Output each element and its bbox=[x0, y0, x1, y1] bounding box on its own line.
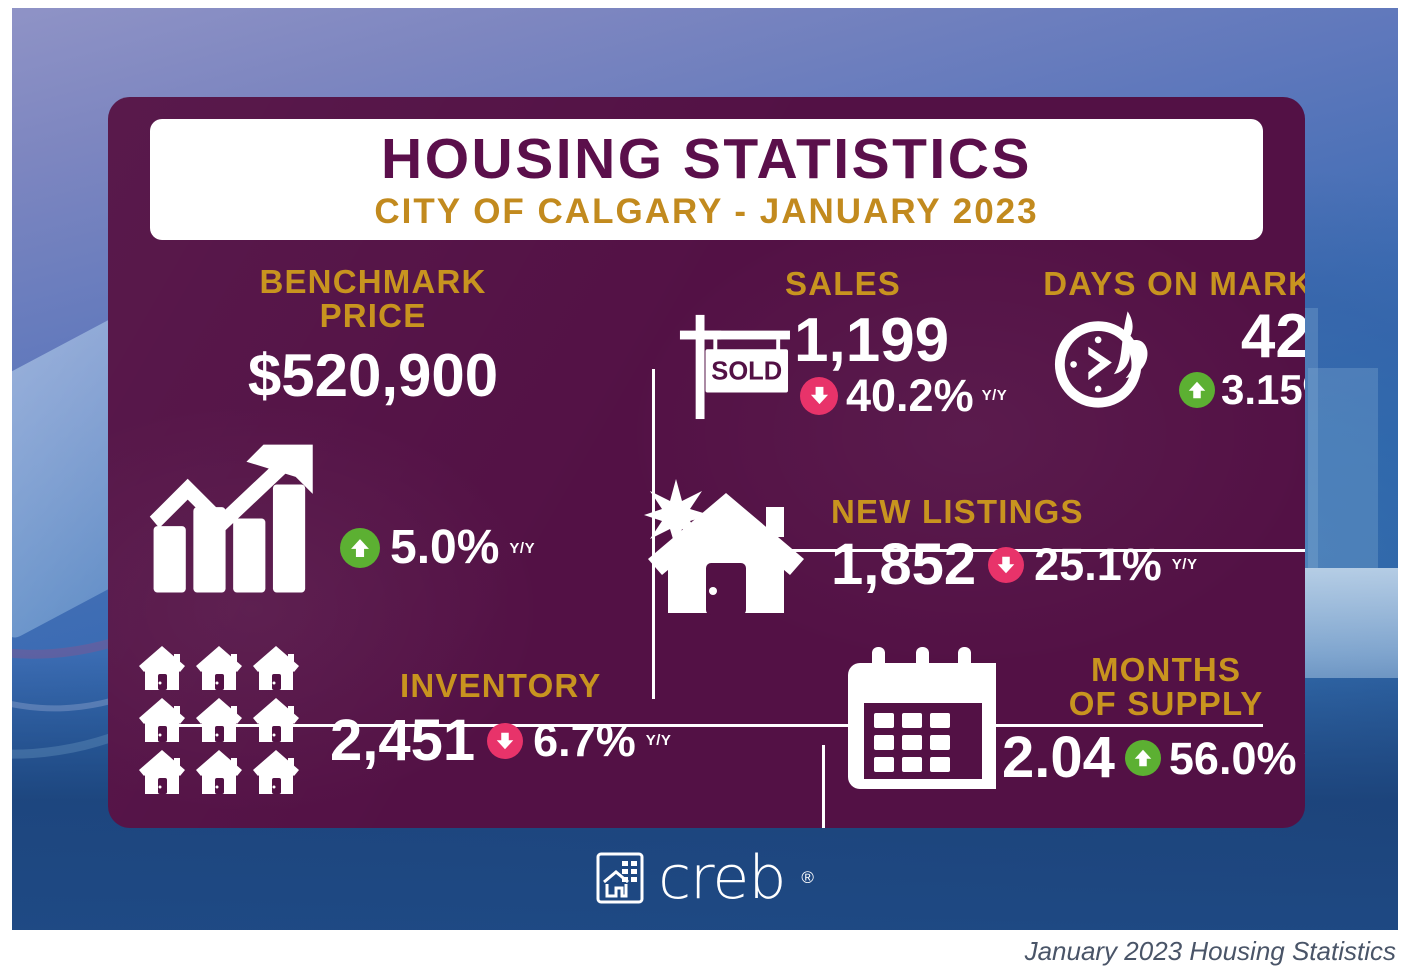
calendar-icon bbox=[848, 645, 996, 795]
creb-logo-mark-icon bbox=[596, 852, 644, 904]
metric-new-listings: NEW LISTINGS 1,852 25.1% Y/Y bbox=[638, 467, 1278, 622]
sales-label: SALES bbox=[668, 267, 1018, 301]
new-listings-label: NEW LISTINGS bbox=[831, 495, 1197, 529]
inventory-value: 2,451 bbox=[330, 712, 475, 770]
creb-logo: creb ® bbox=[0, 848, 1410, 908]
footer-caption: January 2023 Housing Statistics bbox=[1025, 936, 1396, 967]
stats-card: HOUSING STATISTICS CITY OF CALGARY - JAN… bbox=[108, 97, 1305, 828]
arrow-up-icon bbox=[1179, 372, 1215, 408]
benchmark-price-change-value: 5.0% bbox=[390, 524, 499, 572]
arrow-down-icon bbox=[988, 547, 1024, 583]
new-listings-period: Y/Y bbox=[1172, 556, 1198, 573]
page-title: HOUSING STATISTICS bbox=[381, 131, 1032, 188]
days-on-market-change-value: 3.15% bbox=[1221, 369, 1305, 411]
days-on-market-label: DAYS ON MARKET bbox=[1023, 267, 1305, 301]
benchmark-price-label: BENCHMARK PRICE bbox=[138, 265, 608, 334]
new-listings-value: 1,852 bbox=[831, 536, 976, 594]
benchmark-price-value: $520,900 bbox=[138, 346, 608, 406]
houses-grid-icon bbox=[138, 642, 308, 797]
inventory-change: 6.7% Y/Y bbox=[487, 718, 671, 763]
flaming-clock-icon bbox=[1051, 307, 1161, 412]
new-listings-change-value: 25.1% bbox=[1034, 542, 1162, 587]
sales-change: 40.2% Y/Y bbox=[800, 373, 1007, 418]
metric-inventory: INVENTORY 2,451 6.7% Y/Y bbox=[138, 642, 798, 797]
sold-sign-icon: SOLD bbox=[674, 309, 792, 421]
months-of-supply-change: 56.0% Y/Y bbox=[1125, 736, 1305, 781]
months-of-supply-period: Y/Y bbox=[1305, 750, 1306, 767]
vertical-divider-bottom bbox=[822, 745, 825, 828]
metric-months-of-supply: MONTHS OF SUPPLY 2.04 56.0% Y/Y bbox=[848, 645, 1288, 795]
sold-sign-text: SOLD bbox=[711, 358, 782, 386]
metric-days-on-market: DAYS ON MARKET bbox=[1023, 267, 1305, 412]
registered-trademark-icon: ® bbox=[801, 868, 814, 888]
days-on-market-change: 3.15% Y/Y bbox=[1179, 369, 1305, 411]
metric-benchmark-price: BENCHMARK PRICE $520,900 bbox=[138, 265, 608, 406]
months-of-supply-label: MONTHS OF SUPPLY bbox=[1002, 653, 1305, 722]
house-sparkle-icon bbox=[638, 467, 813, 622]
sales-value: 1,199 bbox=[794, 312, 1007, 371]
bar-chart-growth-icon bbox=[146, 437, 326, 602]
title-plate: HOUSING STATISTICS CITY OF CALGARY - JAN… bbox=[150, 119, 1263, 240]
metric-sales: SALES SOLD 1,199 bbox=[668, 267, 1018, 421]
sales-change-value: 40.2% bbox=[846, 373, 974, 418]
arrow-down-icon bbox=[487, 723, 523, 759]
inventory-change-value: 6.7% bbox=[533, 718, 636, 763]
months-of-supply-value: 2.04 bbox=[1002, 729, 1115, 787]
benchmark-price-period: Y/Y bbox=[509, 540, 535, 557]
new-listings-change: 25.1% Y/Y bbox=[988, 542, 1197, 587]
inventory-label: INVENTORY bbox=[330, 669, 671, 703]
months-of-supply-change-value: 56.0% bbox=[1169, 736, 1297, 781]
arrow-up-icon bbox=[340, 528, 380, 568]
creb-logo-wordmark: creb bbox=[658, 848, 785, 908]
infographic-page: HOUSING STATISTICS CITY OF CALGARY - JAN… bbox=[0, 0, 1410, 976]
page-subtitle: CITY OF CALGARY - JANUARY 2023 bbox=[374, 194, 1038, 229]
benchmark-price-change: 5.0% Y/Y bbox=[340, 524, 535, 602]
city-building bbox=[1308, 368, 1378, 568]
arrow-up-icon bbox=[1125, 740, 1161, 776]
inventory-period: Y/Y bbox=[646, 732, 672, 749]
arrow-down-icon bbox=[800, 377, 838, 415]
days-on-market-value: 42 bbox=[1179, 308, 1305, 367]
sales-period: Y/Y bbox=[982, 387, 1008, 404]
benchmark-price-detail-row: 5.0% Y/Y bbox=[138, 437, 608, 602]
